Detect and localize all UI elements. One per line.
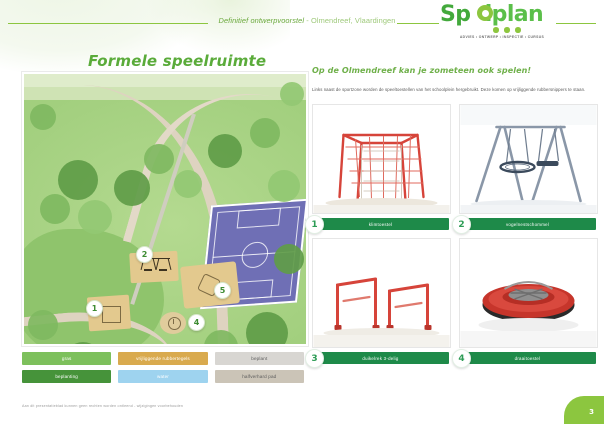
map-tree xyxy=(78,200,112,234)
page-title: Formele speelruimte xyxy=(88,52,266,70)
logo-dots-icon xyxy=(493,27,533,33)
map-equipment-icon-roundabout xyxy=(168,317,181,330)
map-tree xyxy=(114,170,150,206)
presentation-slide: Definitief ontwerpvoorstel - Olmendreef,… xyxy=(0,0,604,424)
photo-caption-2: 2 vogelnestschommel xyxy=(459,218,596,230)
photo-cell-4[interactable]: 4 draaitoestel xyxy=(459,238,596,364)
photo-row-bottom: 3 duikelrek 3-delig xyxy=(312,238,596,364)
photo-caption-label-1: klimtoestel xyxy=(369,222,393,227)
map-tree xyxy=(58,160,98,200)
photo-caption-3: 3 duikelrek 3-delig xyxy=(312,352,449,364)
legend-item-beplanting: beplanting xyxy=(22,370,111,383)
map-tree xyxy=(246,312,288,346)
header-title-location: - Olmendreef, Vlaardingen xyxy=(304,16,395,25)
photo-caption-label-3: duikelrek 3-delig xyxy=(362,356,398,361)
photo-cell-1[interactable]: 1 klimtoestel xyxy=(312,104,449,230)
climbing-frame-illustration xyxy=(313,105,450,213)
logo-word-part-1: Sp xyxy=(440,2,470,27)
photo-duikelrek xyxy=(312,238,451,348)
court-goal-area-top xyxy=(237,208,281,229)
roundabout-illustration xyxy=(460,239,597,347)
photo-grid: 1 klimtoestel xyxy=(312,104,596,372)
photo-caption-4: 4 draaitoestel xyxy=(459,352,596,364)
photo-draaitoestel xyxy=(459,238,598,348)
map-tree xyxy=(174,170,202,198)
map-tree xyxy=(40,194,70,224)
map-tree xyxy=(280,82,304,106)
page-number-text: 3 xyxy=(589,408,594,416)
map-tree xyxy=(250,118,280,148)
header-rule-right xyxy=(556,23,596,24)
header-rule-left xyxy=(8,23,208,24)
header-title-emphasis: Definitief ontwerpvoorstel xyxy=(219,16,305,25)
photo-number-1: 1 xyxy=(305,215,324,234)
legend-item-rubbertegels: vrijliggende rubbertegels xyxy=(118,352,207,365)
photo-klimtoestel xyxy=(312,104,451,214)
speelplan-logo: Spelplan ADVIES • ONTWERP • INSPECTIE • … xyxy=(440,4,556,42)
header-project-title: Definitief ontwerpvoorstel - Olmendreef,… xyxy=(212,16,402,25)
photo-cell-3[interactable]: 3 duikelrek 3-delig xyxy=(312,238,449,364)
legend-item-halfverhard-pad: halfverhard pad xyxy=(215,370,304,383)
photo-caption-label-4: draaitoestel xyxy=(515,356,541,361)
photo-cell-2[interactable]: 2 vogelnestschommel xyxy=(459,104,596,230)
site-plan-map[interactable]: 1 2 4 5 xyxy=(22,72,308,346)
right-column-heading: Op de Olmendreef kan je zometeen ook spe… xyxy=(312,66,531,75)
photo-row-top: 1 klimtoestel xyxy=(312,104,596,230)
map-canvas: 1 2 4 5 xyxy=(24,74,306,344)
map-tree xyxy=(144,144,174,174)
photo-caption-1: 1 klimtoestel xyxy=(312,218,449,230)
header-rule-middle xyxy=(397,23,439,24)
right-column-body-text: Links naast de sportzone worden de speel… xyxy=(312,86,596,93)
logo-tagline: ADVIES • ONTWERP • INSPECTIE • CURSUS xyxy=(448,35,556,39)
legend-item-water: water xyxy=(118,370,207,383)
slide-header: Definitief ontwerpvoorstel - Olmendreef,… xyxy=(0,0,604,46)
photo-vogelnestschommel xyxy=(459,104,598,214)
map-marker-5[interactable]: 5 xyxy=(214,282,231,299)
map-marker-4[interactable]: 4 xyxy=(188,314,205,331)
map-tree xyxy=(28,310,58,340)
map-legend: gras vrijliggende rubbertegels beplant b… xyxy=(22,352,304,388)
photo-caption-label-2: vogelnestschommel xyxy=(506,222,549,227)
disclaimer-text: Aan dit presentatieblad kunnen geen rech… xyxy=(22,404,183,408)
horizontal-bars-illustration xyxy=(313,239,450,347)
map-tree xyxy=(274,244,304,274)
map-tree xyxy=(208,134,242,168)
map-tree xyxy=(164,344,192,346)
legend-row-top: gras vrijliggende rubbertegels beplant xyxy=(22,352,304,365)
logo-word-part-2: lplan xyxy=(485,2,543,27)
photo-number-4: 4 xyxy=(452,349,471,368)
map-equipment-icon-climbing xyxy=(102,306,121,323)
photo-number-3: 3 xyxy=(305,349,324,368)
page-number-badge: 3 xyxy=(564,396,604,424)
map-tree xyxy=(268,170,300,202)
logo-circle-e-icon xyxy=(477,5,493,21)
map-marker-1[interactable]: 1 xyxy=(86,300,103,317)
legend-item-beplant: beplant xyxy=(215,352,304,365)
legend-item-gras: gras xyxy=(22,352,111,365)
nest-swing-illustration xyxy=(460,105,597,213)
map-tree xyxy=(30,104,56,130)
page-number-shape xyxy=(564,396,604,424)
photo-number-2: 2 xyxy=(452,215,471,234)
legend-row-bottom: beplanting water halfverhard pad xyxy=(22,370,304,383)
map-marker-2[interactable]: 2 xyxy=(136,246,153,263)
